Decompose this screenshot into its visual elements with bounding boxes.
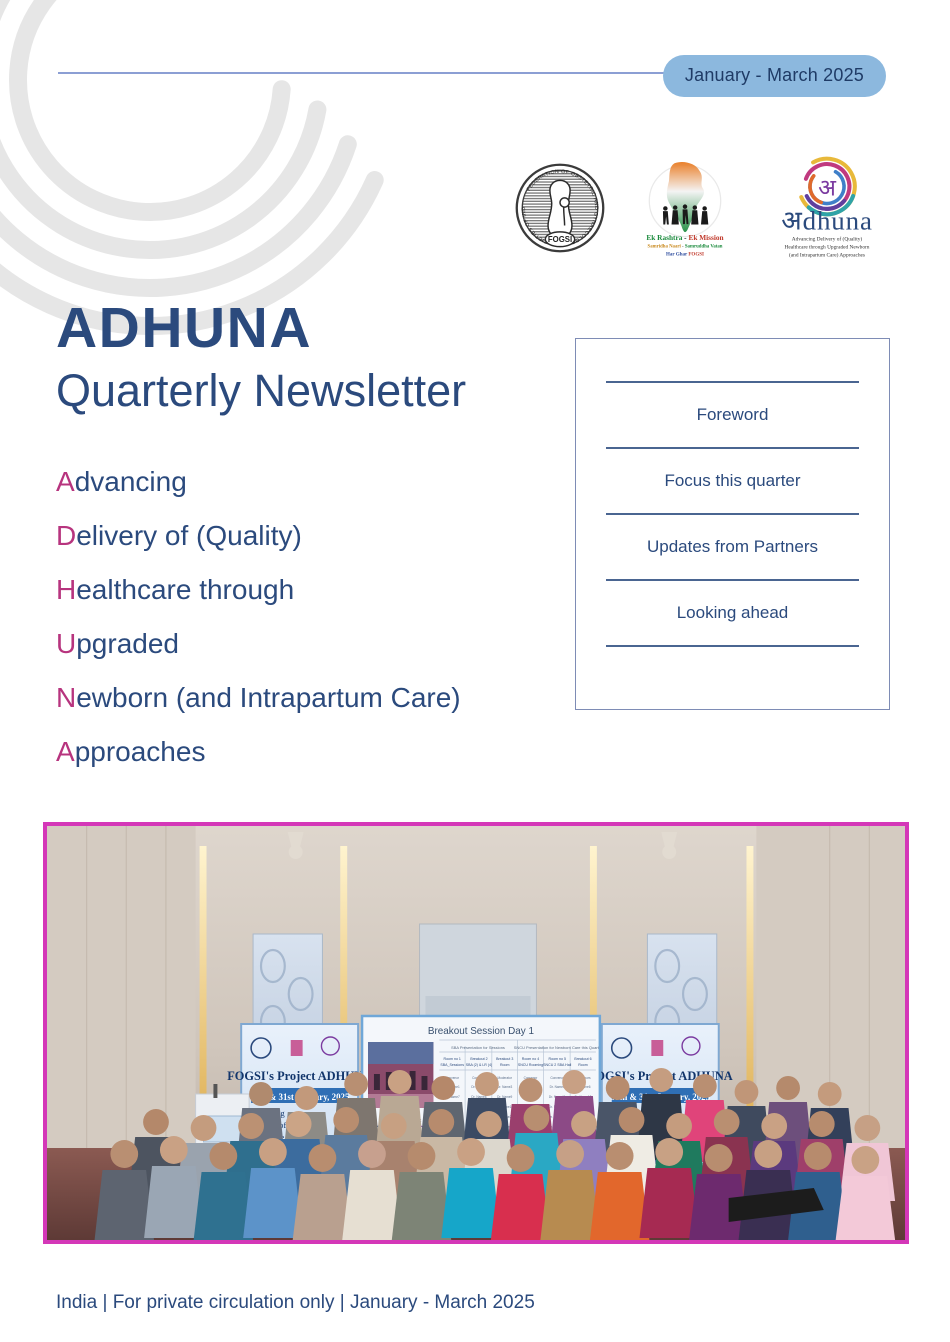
svg-text:Dr. Name3: Dr. Name3 [497, 1085, 512, 1089]
acronym-line: Delivery of (Quality) [56, 522, 461, 550]
acronym-initial: U [56, 628, 76, 659]
acronym-line: Upgraded [56, 630, 461, 658]
acronym-expansion: Advancing Delivery of (Quality) Healthca… [56, 468, 461, 792]
acronym-initial: A [56, 466, 75, 497]
acronym-rest: pgraded [76, 628, 179, 659]
svg-text:Breakout 3: Breakout 3 [496, 1057, 513, 1061]
svg-text:SNCU Presentation for Newborn: SNCU Presentation for Newborn Care this … [514, 1045, 600, 1050]
svg-text:अdhuna: अdhuna [781, 205, 873, 235]
svg-text:Convenor: Convenor [550, 1076, 564, 1080]
acronym-line: Advancing [56, 468, 461, 496]
svg-text:Ek Rashtra - Ek Mission: Ek Rashtra - Ek Mission [646, 233, 723, 242]
svg-text:Room: Room [578, 1063, 588, 1067]
acronym-rest: pproaches [75, 736, 206, 767]
logo-row: FEDERATION OF OBSTETRIC AND GYNAECOLOGIC… [514, 155, 890, 265]
footer-text: India | For private circulation only | J… [56, 1292, 535, 1314]
svg-text:Room: Room [500, 1063, 510, 1067]
acronym-initial: H [56, 574, 76, 605]
svg-text:SBA_Sessions: SBA_Sessions [440, 1063, 464, 1067]
svg-text:SBA (2) & LR (4): SBA (2) & LR (4) [466, 1063, 493, 1067]
svg-text:Room no 1: Room no 1 [444, 1057, 461, 1061]
contents-box: Foreword Focus this quarter Updates from… [575, 338, 890, 710]
acronym-initial: A [56, 736, 75, 767]
svg-text:Room no 5: Room no 5 [549, 1057, 566, 1061]
page-subtitle: Quarterly Newsletter [56, 365, 466, 417]
svg-text:Breakout Session Day 1: Breakout Session Day 1 [428, 1026, 535, 1037]
toc-item-focus-this-quarter[interactable]: Focus this quarter [606, 449, 859, 513]
svg-text:Samridha Naari - Samruddha Vat: Samridha Naari - Samruddha Vatan [648, 244, 723, 249]
toc-item-foreword[interactable]: Foreword [606, 383, 859, 447]
svg-text:अ: अ [818, 175, 837, 201]
svg-text:Advancing Delivery of (Quality: Advancing Delivery of (Quality) [792, 235, 863, 242]
svg-text:Moderator: Moderator [498, 1076, 512, 1080]
fogsi-logo: FEDERATION OF OBSTETRIC AND GYNAECOLOGIC… [514, 162, 606, 259]
svg-text:Dr. Name5: Dr. Name5 [550, 1085, 565, 1089]
acronym-rest: elivery of (Quality) [76, 520, 302, 551]
svg-text:FOGSI: FOGSI [548, 235, 572, 244]
acronym-initial: D [56, 520, 76, 551]
toc-item-updates-from-partners[interactable]: Updates from Partners [606, 515, 859, 579]
adhuna-project-logo: अ अdhuna Advancing Delivery of (Quality)… [764, 156, 890, 265]
newsletter-cover-page: January - March 2025 FEDERATION OF OBSTE… [0, 0, 950, 1342]
acronym-rest: dvancing [75, 466, 187, 497]
page-title: ADHUNA [56, 300, 466, 357]
svg-text:SNCU 2 SBA Hall: SNCU 2 SBA Hall [543, 1063, 571, 1067]
ek-rashtra-ek-mission-logo: Ek Rashtra - Ek Mission Samridha Naari -… [640, 158, 730, 263]
svg-text:Healthcare through Upgraded Ne: Healthcare through Upgraded Newborn [785, 244, 870, 250]
decorative-arcs [0, 0, 410, 340]
header-divider-rule [58, 72, 698, 74]
acronym-line: Healthcare through [56, 576, 461, 604]
toc-item-looking-ahead[interactable]: Looking ahead [606, 581, 859, 645]
svg-text:Breakout 6: Breakout 6 [574, 1057, 591, 1061]
svg-text:Har Ghar FOGSI: Har Ghar FOGSI [666, 252, 704, 257]
masthead: ADHUNA Quarterly Newsletter [56, 300, 466, 417]
issue-date-badge: January - March 2025 [663, 55, 886, 97]
svg-text:SNCU Rooming: SNCU Rooming [518, 1063, 543, 1067]
svg-text:(and Intrapartum Care) Approac: (and Intrapartum Care) Approaches [789, 251, 865, 258]
svg-text:Breakout 2: Breakout 2 [470, 1057, 487, 1061]
toc-divider [606, 645, 859, 647]
acronym-initial: N [56, 682, 76, 713]
conference-group-photo: FOGSI's Project ADHUNA 30th & 31st Janua… [43, 822, 909, 1244]
acronym-line: Newborn (and Intrapartum Care) [56, 684, 461, 712]
svg-text:SBA Presentation for Sessions: SBA Presentation for Sessions [451, 1045, 505, 1050]
acronym-rest: ealthcare through [76, 574, 294, 605]
acronym-line: Approaches [56, 738, 461, 766]
acronym-rest: ewborn (and Intrapartum Care) [76, 682, 460, 713]
svg-text:Room no 4: Room no 4 [522, 1057, 539, 1061]
